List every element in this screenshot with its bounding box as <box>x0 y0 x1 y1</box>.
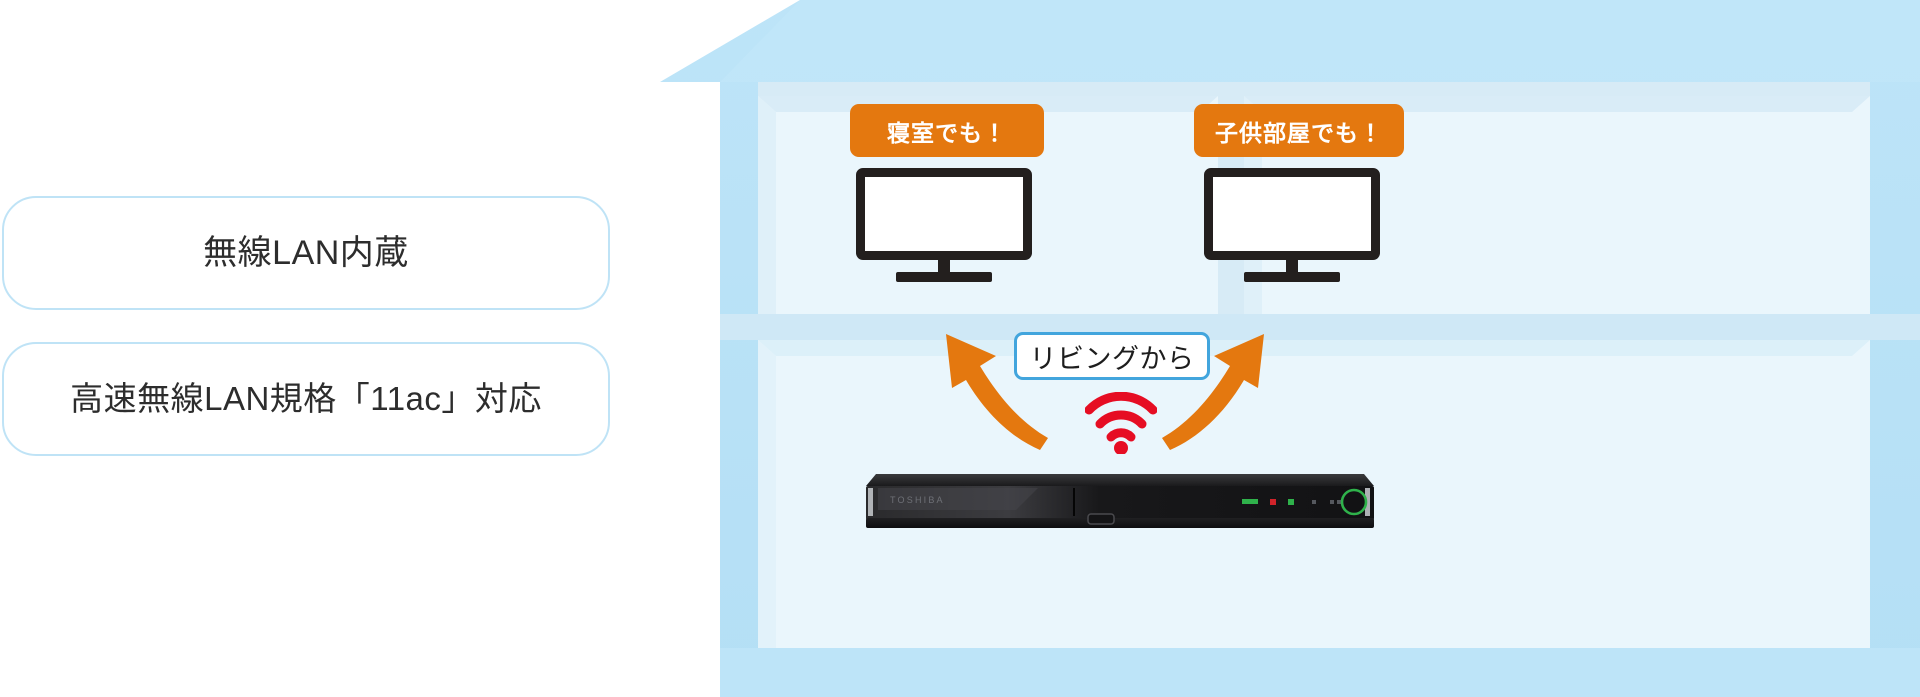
recorder-front-port <box>1088 514 1114 524</box>
recorder-indicator-red <box>1270 499 1276 505</box>
tv-base <box>896 272 992 282</box>
tv-screen-icon <box>1204 168 1380 260</box>
house-roof-sheen <box>720 0 1920 82</box>
bluray-recorder-device: TOSHIBA <box>860 458 1380 534</box>
feature-panel: 無線LAN内蔵 高速無線LAN規格「11ac」対応 <box>0 0 660 697</box>
recorder-brand-label: TOSHIBA <box>890 495 945 505</box>
tv-screen-icon <box>856 168 1032 260</box>
feature-box-11ac: 高速無線LAN規格「11ac」対応 <box>2 342 610 456</box>
house-illustration: 寝室でも！ 子供部屋でも！ リビングから <box>660 0 1920 697</box>
tv-base <box>1244 272 1340 282</box>
room-bedroom-left-shadow <box>758 96 776 314</box>
feature-label-11ac: 高速無線LAN規格「11ac」対応 <box>70 379 542 419</box>
signal-arrow-left-icon <box>900 322 1050 452</box>
recorder-indicator-dim-2 <box>1330 500 1334 504</box>
recorder-indicator-dim-3 <box>1337 500 1341 504</box>
room-label-bedroom-text: 寝室でも！ <box>887 114 1007 148</box>
recorder-left-accent <box>868 488 873 516</box>
recorder-base <box>866 518 1374 528</box>
signal-arrow-right-icon <box>1160 322 1310 452</box>
tv-kids <box>1204 168 1380 280</box>
recorder-indicator-green-2 <box>1288 499 1294 505</box>
house-base <box>720 648 1920 697</box>
wifi-signal-icon <box>1085 392 1157 454</box>
tv-bedroom <box>856 168 1032 280</box>
feature-box-wireless-lan: 無線LAN内蔵 <box>2 196 610 310</box>
recorder-top <box>866 474 1374 486</box>
room-label-kids-text: 子供部屋でも！ <box>1215 114 1383 148</box>
room-label-kids: 子供部屋でも！ <box>1194 104 1404 157</box>
room-label-bedroom: 寝室でも！ <box>850 104 1044 157</box>
recorder-indicator-dim-1 <box>1312 500 1316 504</box>
feature-label-wireless-lan: 無線LAN内蔵 <box>203 233 409 274</box>
infographic-root: 無線LAN内蔵 高速無線LAN規格「11ac」対応 <box>0 0 1920 697</box>
recorder-indicator-green-1 <box>1242 499 1258 504</box>
room-living-left-shadow <box>758 340 776 655</box>
